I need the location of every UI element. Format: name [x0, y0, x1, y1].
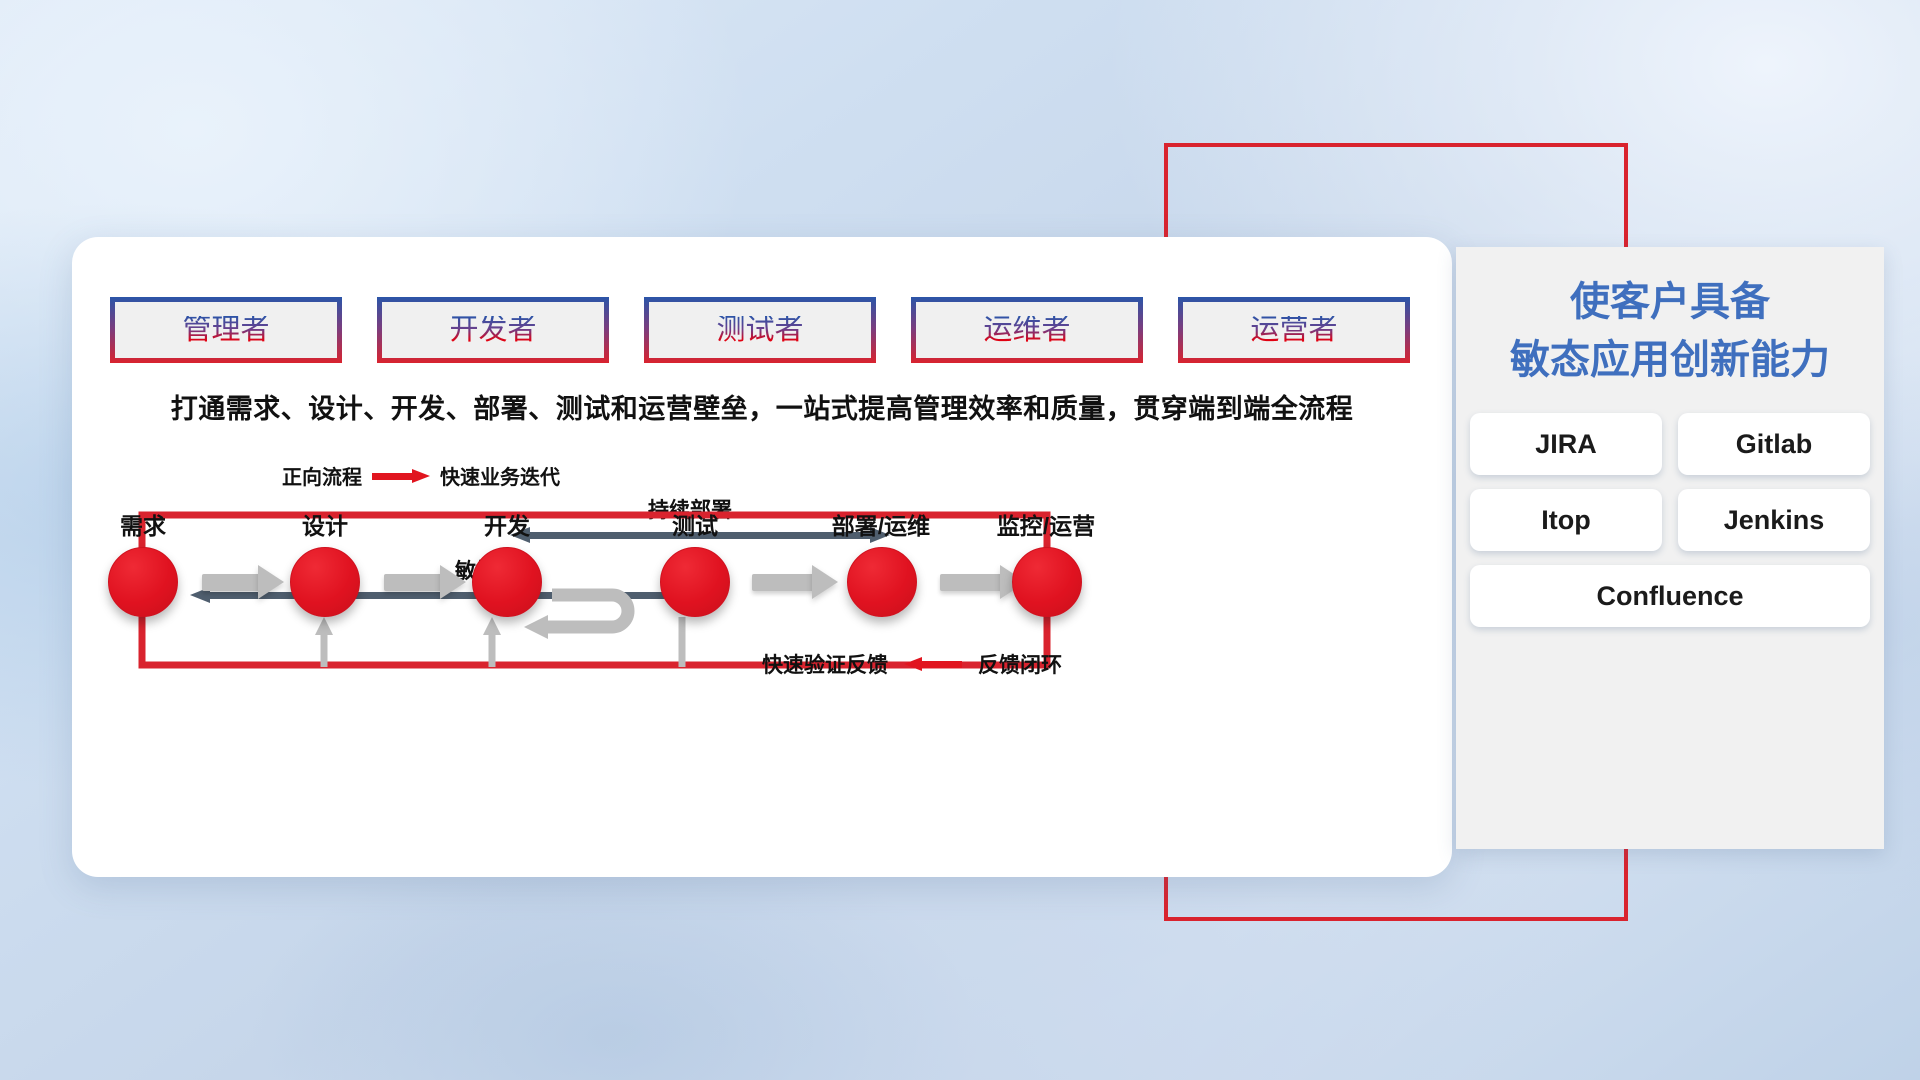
tool-tag-itop[interactable]: Itop [1470, 489, 1662, 551]
node-develop[interactable] [472, 547, 542, 617]
node-label-deploy-ops: 部署/运维 [802, 507, 960, 541]
legend-fast-validation: 快速验证反馈 [762, 649, 888, 679]
tool-tag-jira[interactable]: JIRA [1470, 413, 1662, 475]
node-label-requirement: 需求 [108, 507, 178, 541]
tool-tag-jenkins[interactable]: Jenkins [1678, 489, 1870, 551]
node-monitor-operate[interactable] [1012, 547, 1082, 617]
node-label-test: 测试 [660, 507, 730, 541]
step-arrow-2-icon [384, 565, 466, 599]
node-test[interactable] [660, 547, 730, 617]
step-arrow-1-icon [202, 565, 284, 599]
sidebar-title-line1: 使客户具备 [1456, 273, 1884, 331]
tool-tag-gitlab[interactable]: Gitlab [1678, 413, 1870, 475]
tool-tag-list: JIRA Gitlab Itop Jenkins Confluence [1456, 413, 1884, 627]
pipeline: 需求 设计 开发 测试 部署/运维 监控/运营 [72, 237, 1452, 877]
node-design[interactable] [290, 547, 360, 617]
legend-feedback: 快速验证反馈 反馈闭环 [762, 649, 1062, 679]
node-label-develop: 开发 [472, 507, 542, 541]
sidebar-title: 使客户具备 敏态应用创新能力 [1456, 247, 1884, 389]
main-card: 管理者 开发者 测试者 运维者 运营者 打通需求、设计、开发、部署、测试和运营壁… [72, 237, 1452, 877]
node-deploy-ops[interactable] [847, 547, 917, 617]
step-arrow-3-icon [752, 565, 838, 599]
legend-feedback-loop: 反馈闭环 [978, 649, 1062, 679]
arrow-left-red-icon [904, 657, 962, 671]
sidebar-panel: 使客户具备 敏态应用创新能力 JIRA Gitlab Itop Jenkins … [1456, 247, 1884, 849]
node-label-monitor-operate: 监控/运营 [967, 507, 1125, 541]
tool-tag-confluence[interactable]: Confluence [1470, 565, 1870, 627]
node-label-design: 设计 [290, 507, 360, 541]
sidebar-title-line2: 敏态应用创新能力 [1456, 331, 1884, 389]
node-requirement[interactable] [108, 547, 178, 617]
